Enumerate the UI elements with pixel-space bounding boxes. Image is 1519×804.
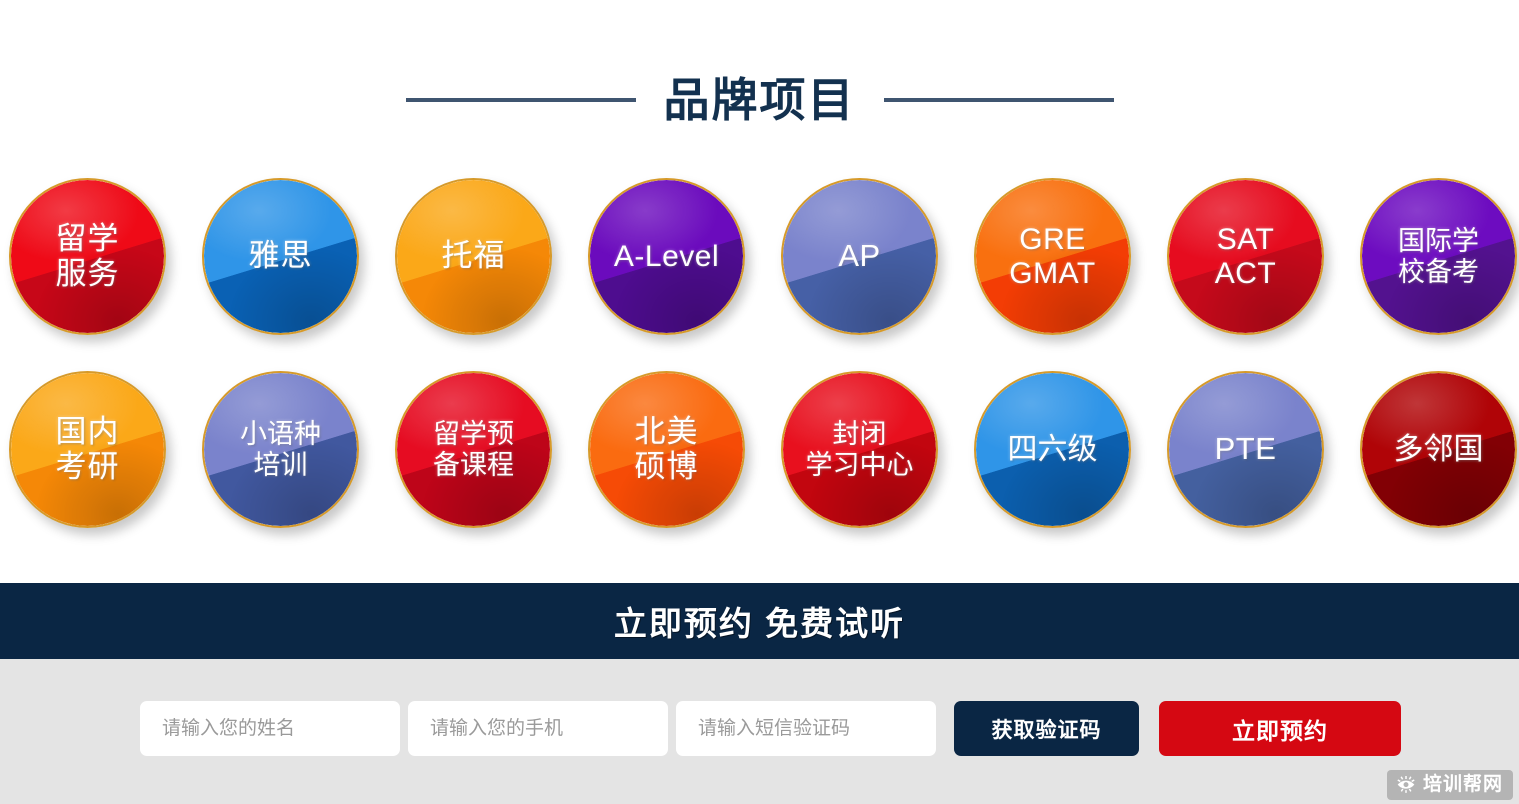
program-bubble-label: 托福 xyxy=(436,239,512,274)
program-bubble-label: 留学预 备课程 xyxy=(427,419,520,479)
booking-form: 获取验证码 立即预约 xyxy=(140,701,1401,756)
get-verification-code-button[interactable]: 获取验证码 xyxy=(954,701,1139,756)
cta-banner-text: 立即预约 免费试听 xyxy=(614,597,905,645)
program-row-2: 国内 考研小语种 培训留学预 备课程北美 硕博封闭 学习中心四六级PTE多邻国 xyxy=(9,371,1513,564)
program-bubble[interactable]: 留学预 备课程 xyxy=(395,371,552,528)
program-bubble-label: SAT ACT xyxy=(1209,223,1283,290)
phone-input[interactable] xyxy=(408,701,668,756)
program-bubble[interactable]: 多邻国 xyxy=(1360,371,1517,528)
program-bubble[interactable]: 国际学 校备考 xyxy=(1360,178,1517,335)
program-bubble-label: 留学 服务 xyxy=(50,222,126,291)
program-bubble[interactable]: 封闭 学习中心 xyxy=(781,371,938,528)
sms-code-input[interactable] xyxy=(676,701,936,756)
program-bubble-label: 四六级 xyxy=(1002,433,1104,467)
program-bubble[interactable]: 雅思 xyxy=(202,178,359,335)
program-bubble[interactable]: 四六级 xyxy=(974,371,1131,528)
program-bubble[interactable]: 国内 考研 xyxy=(9,371,166,528)
program-bubble-label: GRE GMAT xyxy=(1003,223,1101,290)
program-bubble[interactable]: A-Level xyxy=(588,178,745,335)
heading-rule-right xyxy=(884,98,1114,102)
program-bubble[interactable]: 留学 服务 xyxy=(9,178,166,335)
program-bubble-label: 国际学 校备考 xyxy=(1392,226,1485,286)
program-bubble-label: A-Level xyxy=(608,240,725,274)
program-bubble-label: AP xyxy=(832,239,886,274)
program-bubble[interactable]: AP xyxy=(781,178,938,335)
program-bubble-label: 多邻国 xyxy=(1388,433,1490,467)
program-bubble-label: PTE xyxy=(1209,432,1283,467)
program-bubble[interactable]: PTE xyxy=(1167,371,1324,528)
program-bubble[interactable]: 北美 硕博 xyxy=(588,371,745,528)
program-grid: 留学 服务雅思托福A-LevelAPGRE GMATSAT ACT国际学 校备考… xyxy=(9,178,1513,564)
booking-form-strip: 获取验证码 立即预约 培训帮网 xyxy=(0,659,1519,804)
program-bubble-label: 国内 考研 xyxy=(50,415,126,484)
eye-sun-icon xyxy=(1395,774,1417,796)
page-title: 品牌项目 xyxy=(664,77,856,123)
program-bubble-label: 小语种 培训 xyxy=(234,419,327,479)
cta-banner: 立即预约 免费试听 xyxy=(0,583,1519,659)
program-bubble[interactable]: GRE GMAT xyxy=(974,178,1131,335)
submit-booking-button[interactable]: 立即预约 xyxy=(1159,701,1401,756)
program-bubble-label: 北美 硕博 xyxy=(629,415,705,484)
section-heading: 品牌项目 xyxy=(0,64,1519,136)
brand-programs-page: 品牌项目 留学 服务雅思托福A-LevelAPGRE GMATSAT ACT国际… xyxy=(0,0,1519,804)
program-bubble[interactable]: 小语种 培训 xyxy=(202,371,359,528)
watermark-text: 培训帮网 xyxy=(1423,774,1503,796)
name-input[interactable] xyxy=(140,701,400,756)
program-bubble-label: 封闭 学习中心 xyxy=(800,419,920,479)
site-watermark: 培训帮网 xyxy=(1387,770,1513,800)
program-bubble[interactable]: SAT ACT xyxy=(1167,178,1324,335)
program-row-1: 留学 服务雅思托福A-LevelAPGRE GMATSAT ACT国际学 校备考 xyxy=(9,178,1513,371)
heading-rule-left xyxy=(406,98,636,102)
program-bubble-label: 雅思 xyxy=(243,239,319,274)
program-bubble[interactable]: 托福 xyxy=(395,178,552,335)
